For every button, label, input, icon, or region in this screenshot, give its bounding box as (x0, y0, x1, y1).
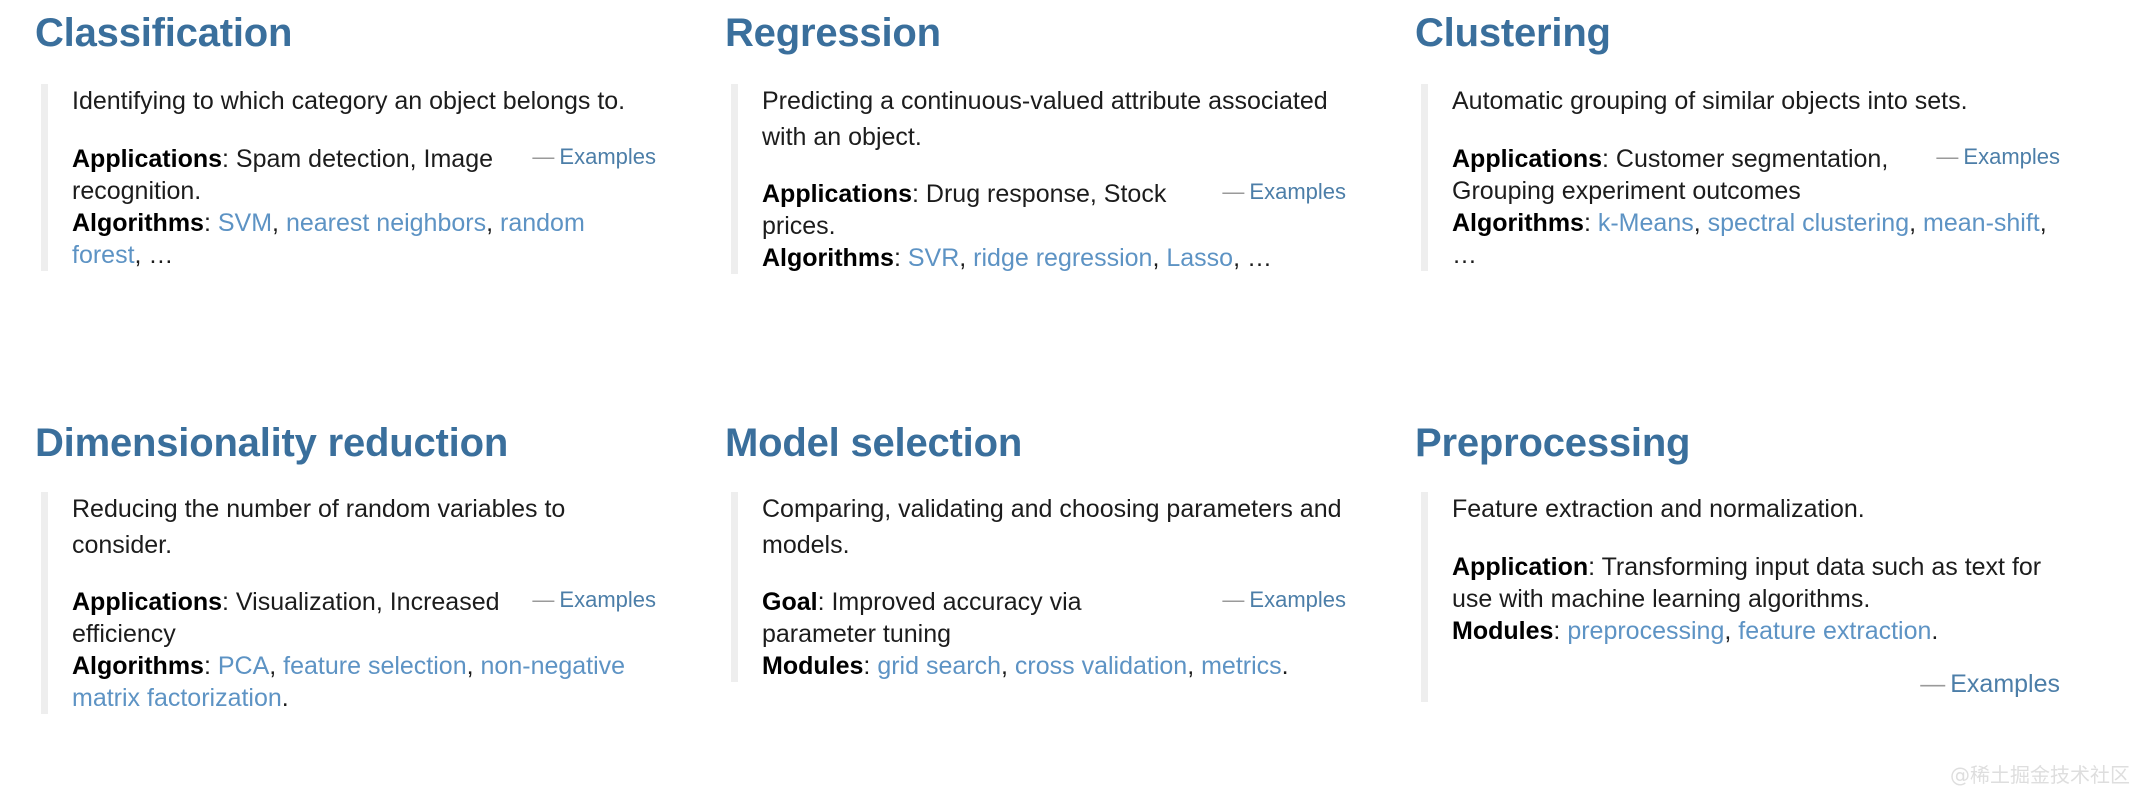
meta-text-model-selection-1-5: . (1282, 652, 1289, 680)
card-preprocessing: PreprocessingFeature extraction and norm… (1380, 410, 2120, 802)
card-title-preprocessing: Preprocessing (1415, 410, 2060, 464)
examples-link-regression[interactable]: Examples (1249, 179, 1346, 204)
examples-link-wrapper-model-selection: —Examples (1222, 586, 1346, 614)
card-title-classification: Classification (35, 0, 656, 54)
card-title-clustering: Clustering (1415, 0, 2060, 54)
examples-link-wrapper-clustering: —Examples (1936, 143, 2060, 171)
meta-label-dimensionality-reduction-0: Applications (72, 588, 222, 616)
meta-link-model-selection-1-4[interactable]: metrics (1201, 652, 1282, 680)
card-description-model-selection: Comparing, validating and choosing param… (762, 492, 1346, 563)
meta-separator: : (222, 588, 236, 616)
em-dash-glyph: — (1222, 179, 1249, 204)
card-meta-dimensionality-reduction: —ExamplesApplications: Visualization, In… (72, 586, 656, 714)
card-description-regression: Predicting a continuous-valued attribute… (762, 84, 1346, 155)
meta-text-preprocessing-1-3: . (1931, 617, 1938, 645)
meta-text-classification-1-5: , … (135, 241, 174, 269)
meta-text-regression-1-3: , (1152, 244, 1166, 272)
watermark: @稀土掘金技术社区 (1950, 759, 2130, 788)
meta-link-clustering-1-0[interactable]: k-Means (1598, 209, 1694, 237)
meta-label-clustering-0: Applications (1452, 145, 1602, 173)
examples-link-model-selection[interactable]: Examples (1249, 587, 1346, 612)
em-dash-glyph: — (1222, 587, 1249, 612)
meta-link-dimensionality-reduction-1-2[interactable]: feature selection (283, 652, 466, 680)
meta-link-preprocessing-1-0[interactable]: preprocessing (1567, 617, 1724, 645)
meta-link-regression-1-0[interactable]: SVR (908, 244, 959, 272)
card-regression: RegressionPredicting a continuous-valued… (690, 0, 1380, 410)
meta-text-regression-1-5: , … (1233, 244, 1272, 272)
examples-link-wrapper-classification: —Examples (532, 143, 656, 171)
meta-separator: : (1553, 617, 1567, 645)
meta-text-dimensionality-reduction-1-5: . (282, 684, 289, 712)
meta-label-preprocessing-0: Application (1452, 553, 1588, 581)
card-meta-model-selection: —ExamplesGoal: Improved accuracy via par… (762, 586, 1346, 682)
meta-text-model-selection-1-1: , (1001, 652, 1015, 680)
meta-link-model-selection-1-2[interactable]: cross validation (1015, 652, 1187, 680)
card-title-model-selection: Model selection (725, 410, 1346, 464)
meta-link-regression-1-2[interactable]: ridge regression (973, 244, 1152, 272)
meta-label-classification-1: Algorithms (72, 209, 204, 237)
examples-link-wrapper-regression: —Examples (1222, 178, 1346, 206)
meta-text-dimensionality-reduction-1-3: , (467, 652, 481, 680)
em-dash-glyph: — (1920, 670, 1950, 698)
meta-label-classification-0: Applications (72, 145, 222, 173)
meta-text-model-selection-1-3: , (1187, 652, 1201, 680)
examples-link-wrapper-dimensionality-reduction: —Examples (532, 586, 656, 614)
examples-link-classification[interactable]: Examples (559, 144, 656, 169)
meta-link-clustering-1-2[interactable]: spectral clustering (1708, 209, 1909, 237)
card-body-dimensionality-reduction: Reducing the number of random variables … (41, 492, 656, 714)
meta-text-classification-1-1: , (272, 209, 286, 237)
card-description-clustering: Automatic grouping of similar objects in… (1452, 84, 2060, 120)
card-body-clustering: Automatic grouping of similar objects in… (1421, 84, 2060, 271)
card-body-model-selection: Comparing, validating and choosing param… (731, 492, 1346, 682)
meta-separator: : (204, 652, 218, 680)
em-dash-glyph: — (532, 587, 559, 612)
card-title-regression: Regression (725, 0, 1346, 54)
meta-separator: : (894, 244, 908, 272)
meta-link-dimensionality-reduction-1-0[interactable]: PCA (218, 652, 269, 680)
meta-separator: : (204, 209, 218, 237)
meta-label-regression-1: Algorithms (762, 244, 894, 272)
meta-label-clustering-1: Algorithms (1452, 209, 1584, 237)
meta-link-regression-1-4[interactable]: Lasso (1166, 244, 1233, 272)
meta-text-classification-1-3: , (486, 209, 500, 237)
card-title-dimensionality-reduction: Dimensionality reduction (35, 410, 656, 464)
card-clustering: ClusteringAutomatic grouping of similar … (1380, 0, 2120, 410)
meta-link-preprocessing-1-2[interactable]: feature extraction (1738, 617, 1931, 645)
meta-text-regression-1-1: , (959, 244, 973, 272)
meta-label-model-selection-0: Goal (762, 588, 818, 616)
meta-label-dimensionality-reduction-1: Algorithms (72, 652, 204, 680)
card-dimensionality-reduction: Dimensionality reductionReducing the num… (0, 410, 690, 802)
meta-separator: : (818, 588, 832, 616)
meta-label-model-selection-1: Modules (762, 652, 863, 680)
meta-separator: : (1602, 145, 1616, 173)
card-body-regression: Predicting a continuous-valued attribute… (731, 84, 1346, 274)
card-description-classification: Identifying to which category an object … (72, 84, 656, 120)
meta-separator: : (863, 652, 877, 680)
card-description-preprocessing: Feature extraction and normalization. (1452, 492, 2060, 528)
card-meta-classification: —ExamplesApplications: Spam detection, I… (72, 143, 656, 271)
meta-link-model-selection-1-0[interactable]: grid search (877, 652, 1001, 680)
em-dash-glyph: — (1936, 144, 1963, 169)
card-meta-regression: —ExamplesApplications: Drug response, St… (762, 178, 1346, 274)
card-meta-preprocessing: Application: Transforming input data suc… (1452, 551, 2060, 647)
meta-separator: : (1588, 553, 1601, 581)
examples-link-clustering[interactable]: Examples (1963, 144, 2060, 169)
meta-link-classification-1-2[interactable]: nearest neighbors (286, 209, 486, 237)
card-meta-clustering: —ExamplesApplications: Customer segmenta… (1452, 143, 2060, 271)
feature-card-grid: ClassificationIdentifying to which categ… (0, 0, 2154, 802)
examples-link-wrapper-preprocessing: —Examples (1452, 667, 2060, 703)
meta-text-clustering-1-3: , (1909, 209, 1923, 237)
examples-link-dimensionality-reduction[interactable]: Examples (559, 587, 656, 612)
meta-separator: : (1584, 209, 1598, 237)
card-classification: ClassificationIdentifying to which categ… (0, 0, 690, 410)
meta-text-dimensionality-reduction-1-1: , (269, 652, 283, 680)
meta-label-preprocessing-1: Modules (1452, 617, 1553, 645)
meta-link-classification-1-0[interactable]: SVM (218, 209, 272, 237)
card-model-selection: Model selectionComparing, validating and… (690, 410, 1380, 802)
meta-link-clustering-1-4[interactable]: mean-shift (1923, 209, 2040, 237)
meta-text-clustering-1-1: , (1694, 209, 1708, 237)
card-body-classification: Identifying to which category an object … (41, 84, 656, 271)
meta-separator: : (912, 180, 926, 208)
meta-separator: : (222, 145, 236, 173)
em-dash-glyph: — (532, 144, 559, 169)
meta-label-regression-0: Applications (762, 180, 912, 208)
examples-link-preprocessing[interactable]: Examples (1950, 670, 2060, 698)
card-body-preprocessing: Feature extraction and normalization.App… (1421, 492, 2060, 702)
card-description-dimensionality-reduction: Reducing the number of random variables … (72, 492, 656, 563)
meta-text-preprocessing-1-1: , (1724, 617, 1738, 645)
